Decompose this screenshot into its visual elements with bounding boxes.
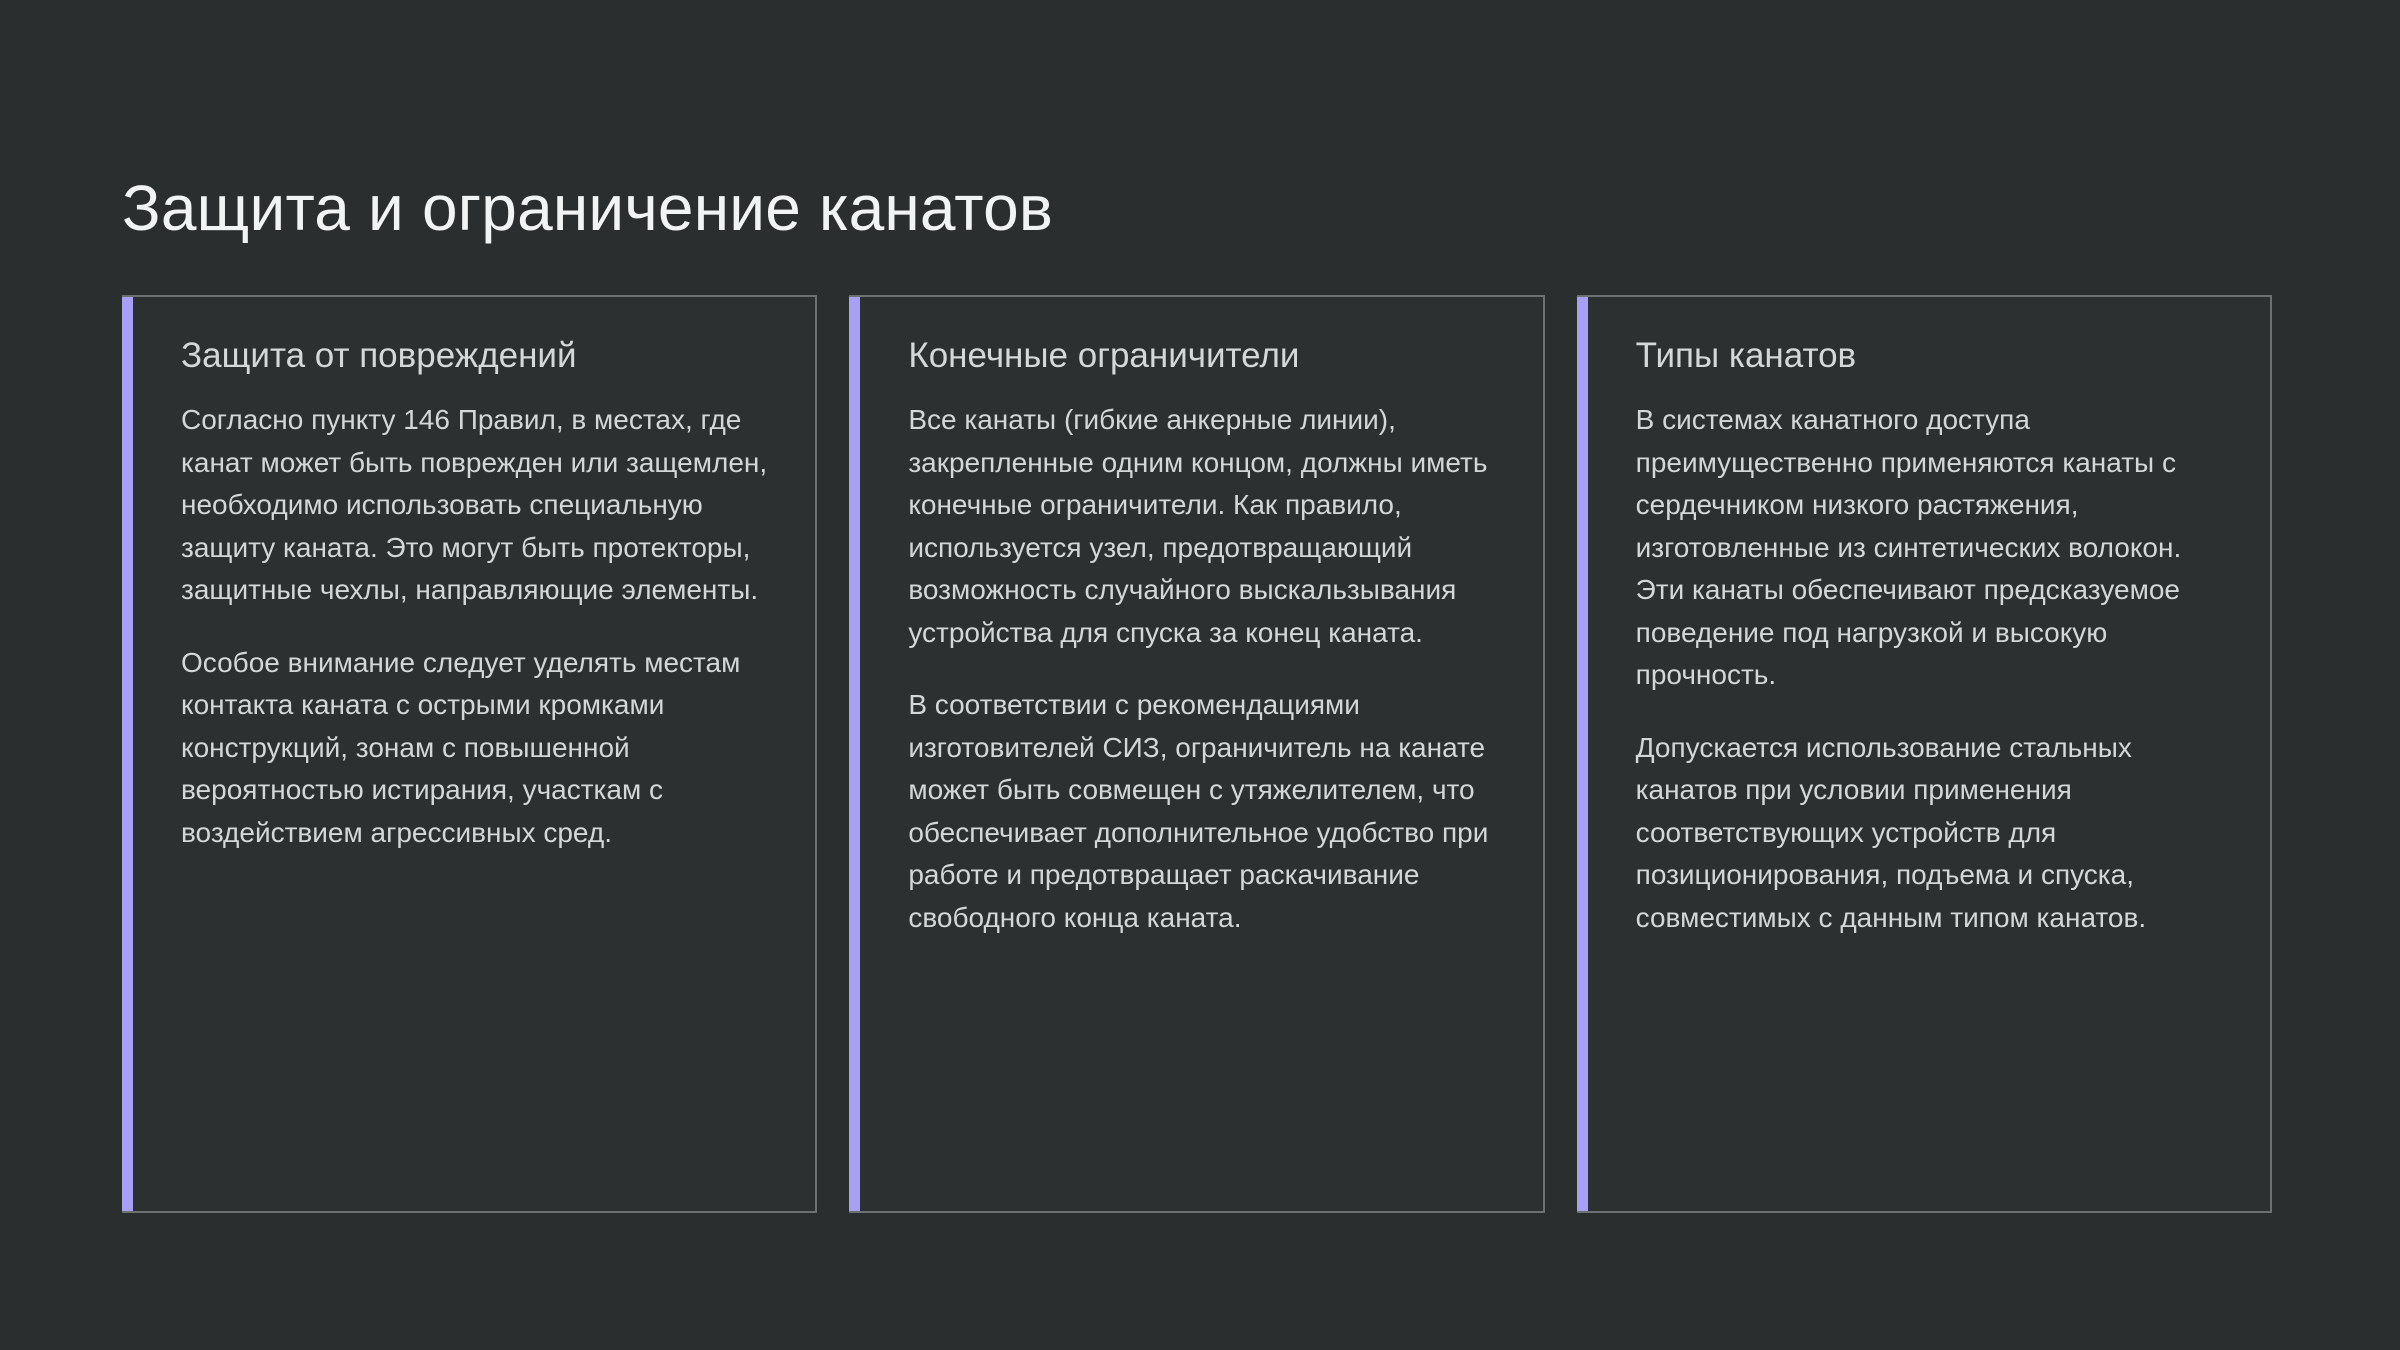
card-paragraph: Все канаты (гибкие анкерные линии), закр… (908, 399, 1498, 654)
card-paragraph: Допускается использование стальных канат… (1636, 727, 2226, 940)
card-grid: Защита от повреждений Согласно пункту 14… (122, 295, 2272, 1213)
info-card-1: Защита от повреждений Согласно пункту 14… (122, 295, 817, 1213)
card-paragraph: Согласно пункту 146 Правил, в местах, гд… (181, 399, 771, 612)
card-paragraph: В соответствии с рекомендациями изготови… (908, 684, 1498, 939)
accent-bar-icon (122, 297, 133, 1211)
accent-bar-icon (1577, 297, 1588, 1211)
card-body: Защита от повреждений Согласно пункту 14… (133, 297, 815, 1211)
page-title: Защита и ограничение канатов (122, 172, 1053, 246)
info-card-2: Конечные ограничители Все канаты (гибкие… (849, 295, 1544, 1213)
accent-bar-icon (849, 297, 860, 1211)
info-card-3: Типы канатов В системах канатного доступ… (1577, 295, 2272, 1213)
card-body: Конечные ограничители Все канаты (гибкие… (860, 297, 1542, 1211)
card-title: Типы канатов (1636, 335, 2226, 377)
slide-root: Защита и ограничение канатов Защита от п… (0, 0, 2400, 1350)
card-body: Типы канатов В системах канатного доступ… (1588, 297, 2270, 1211)
card-title: Конечные ограничители (908, 335, 1498, 377)
card-paragraph: Особое внимание следует уделять местам к… (181, 642, 771, 855)
card-title: Защита от повреждений (181, 335, 771, 377)
card-paragraph: В системах канатного доступа преимуществ… (1636, 399, 2226, 697)
